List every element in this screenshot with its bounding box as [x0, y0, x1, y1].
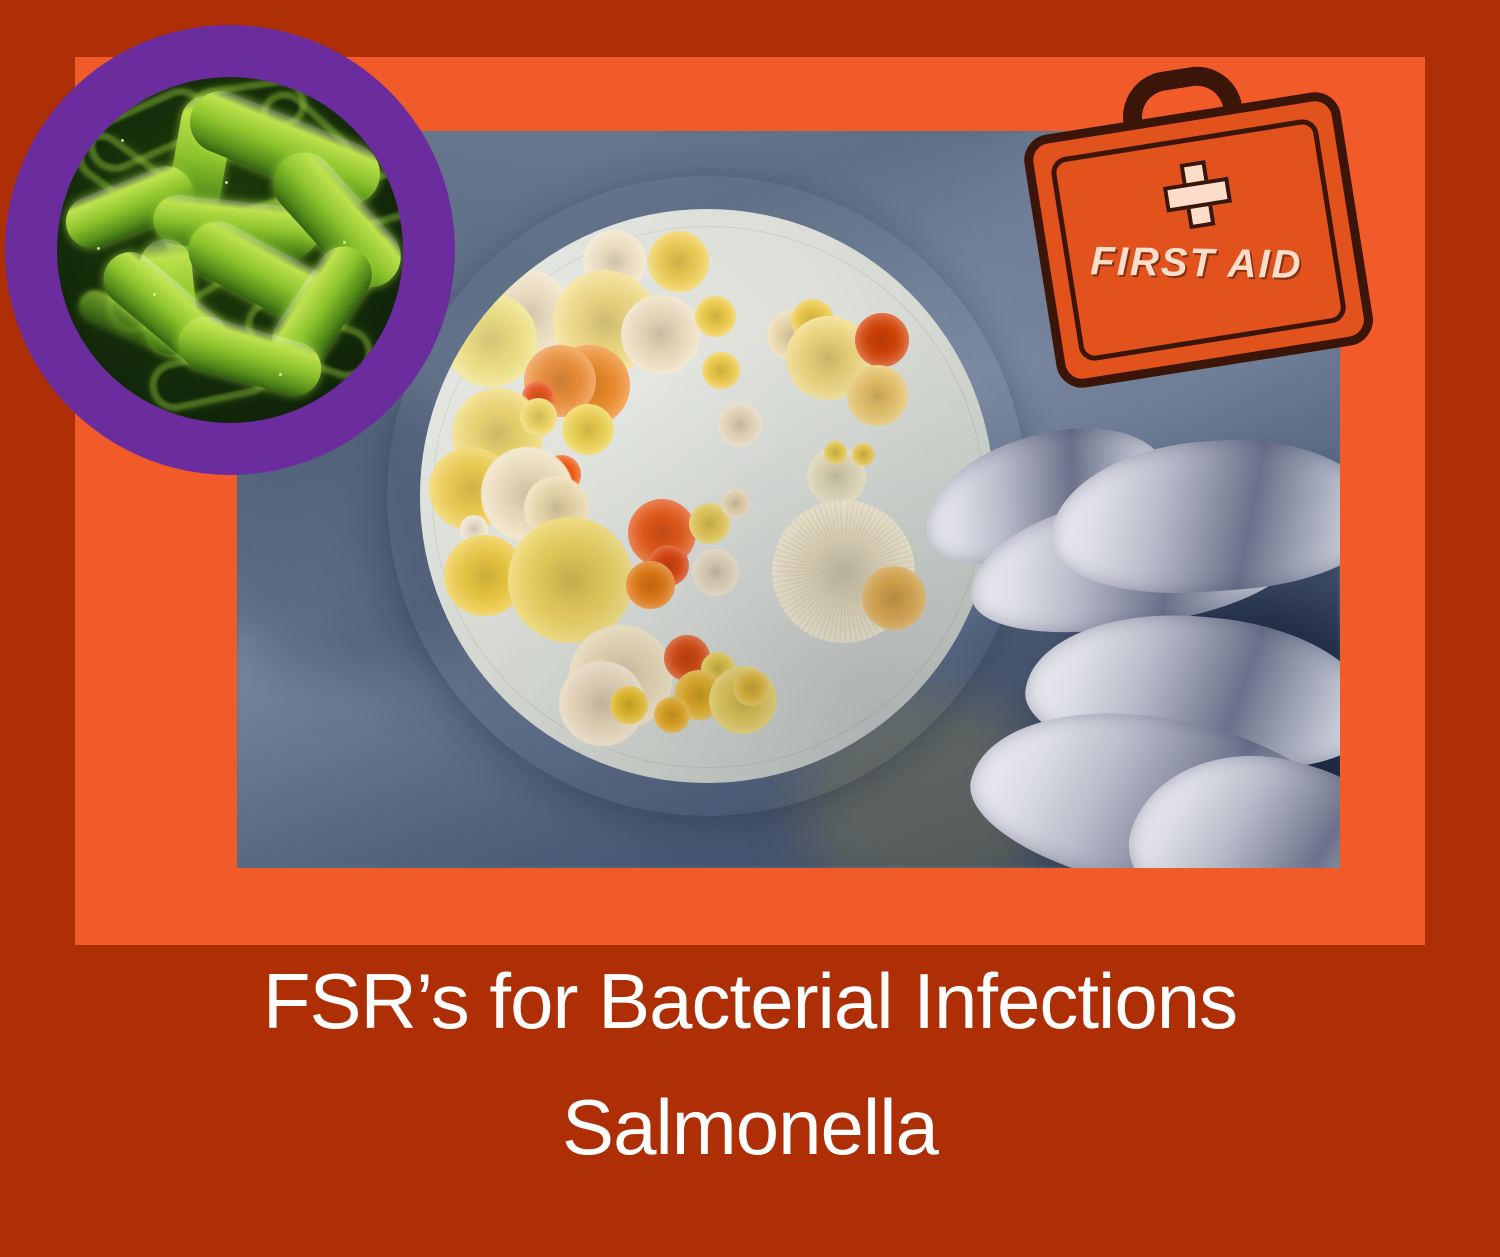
particle-speck: [153, 293, 156, 296]
bacterial-colony: [573, 347, 623, 397]
dish-agar: [420, 209, 993, 782]
bacterial-colony: [648, 231, 709, 292]
particle-speck: [121, 139, 124, 142]
bacterial-colony: [483, 270, 573, 360]
bacterial-colony: [674, 670, 724, 720]
page-title: FSR’s for Bacterial Infections: [0, 962, 1500, 1042]
medical-cross-icon: [1160, 157, 1236, 233]
gloved-hand: [930, 431, 1340, 868]
bacterial-colony: [524, 476, 588, 540]
poster-canvas: FIRST AID FSR’s for Bacterial Infections…: [0, 0, 1500, 1257]
bacterial-colony: [444, 293, 537, 386]
bacterial-colony: [569, 625, 673, 729]
bacterial-colony: [852, 443, 875, 466]
bacterial-colony: [664, 635, 711, 682]
bacterial-colony: [628, 499, 696, 567]
bacteria-micrograph: [57, 77, 403, 423]
bacterial-colony: [695, 296, 736, 337]
particle-speck: [343, 241, 346, 244]
bacterial-colony: [701, 652, 735, 686]
bacterial-colony: [721, 489, 750, 518]
bacterial-colony: [621, 295, 700, 374]
first-aid-kit-icon: FIRST AID: [1010, 46, 1386, 414]
bacterial-colony: [648, 545, 689, 586]
bacterial-colony: [520, 398, 558, 436]
bacterial-colony: [786, 316, 870, 400]
bacterial-colony: [689, 503, 730, 544]
bacterial-colony: [709, 666, 777, 734]
bacterial-colony: [481, 447, 574, 540]
bacterial-colony: [452, 388, 543, 479]
bacterial-colony: [862, 566, 926, 630]
cross-bar-horizontal: [1163, 177, 1232, 213]
first-aid-label: FIRST AID: [1090, 239, 1321, 288]
page-subtitle: Salmonella: [0, 1088, 1500, 1168]
bacterial-colony: [522, 381, 554, 413]
bacterial-colony: [549, 345, 630, 426]
agar-arc: [420, 209, 993, 782]
bacterial-colony: [542, 455, 581, 494]
bacterial-colony: [767, 310, 817, 360]
bacterial-colony: [444, 535, 525, 616]
bacterial-colony: [855, 313, 909, 367]
title-block: FSR’s for Bacterial Infections Salmonell…: [0, 962, 1500, 1167]
kit-body: [1021, 89, 1377, 392]
bacterial-colony: [626, 561, 674, 609]
particle-speck: [279, 373, 282, 376]
bacterial-colony: [718, 402, 763, 447]
bacterial-colony: [583, 230, 646, 293]
bacterial-colony: [791, 299, 834, 342]
bacterial-colony: [702, 352, 740, 390]
bacterial-colony: [429, 447, 511, 529]
bacterial-colony: [524, 345, 596, 417]
bacterial-colony: [553, 270, 657, 374]
bacterial-colony: [772, 500, 915, 643]
bacterial-colony: [460, 515, 489, 544]
bacteria-inset-ring: [5, 25, 455, 475]
colony-layer: [420, 209, 993, 782]
agar-arc: [432, 226, 985, 767]
bacterial-colony: [824, 441, 847, 464]
particle-speck: [225, 181, 228, 184]
bacterial-colony: [847, 365, 908, 426]
bacterial-colony: [733, 670, 769, 706]
bacterial-colony: [559, 661, 645, 747]
bacterial-colony: [807, 447, 866, 506]
bacterial-colony: [610, 686, 648, 724]
bacterial-colony: [562, 404, 614, 456]
particle-speck: [97, 247, 100, 250]
bacterial-colony: [508, 517, 633, 642]
bacterial-colony: [692, 549, 739, 596]
bacterial-colony: [654, 697, 690, 733]
